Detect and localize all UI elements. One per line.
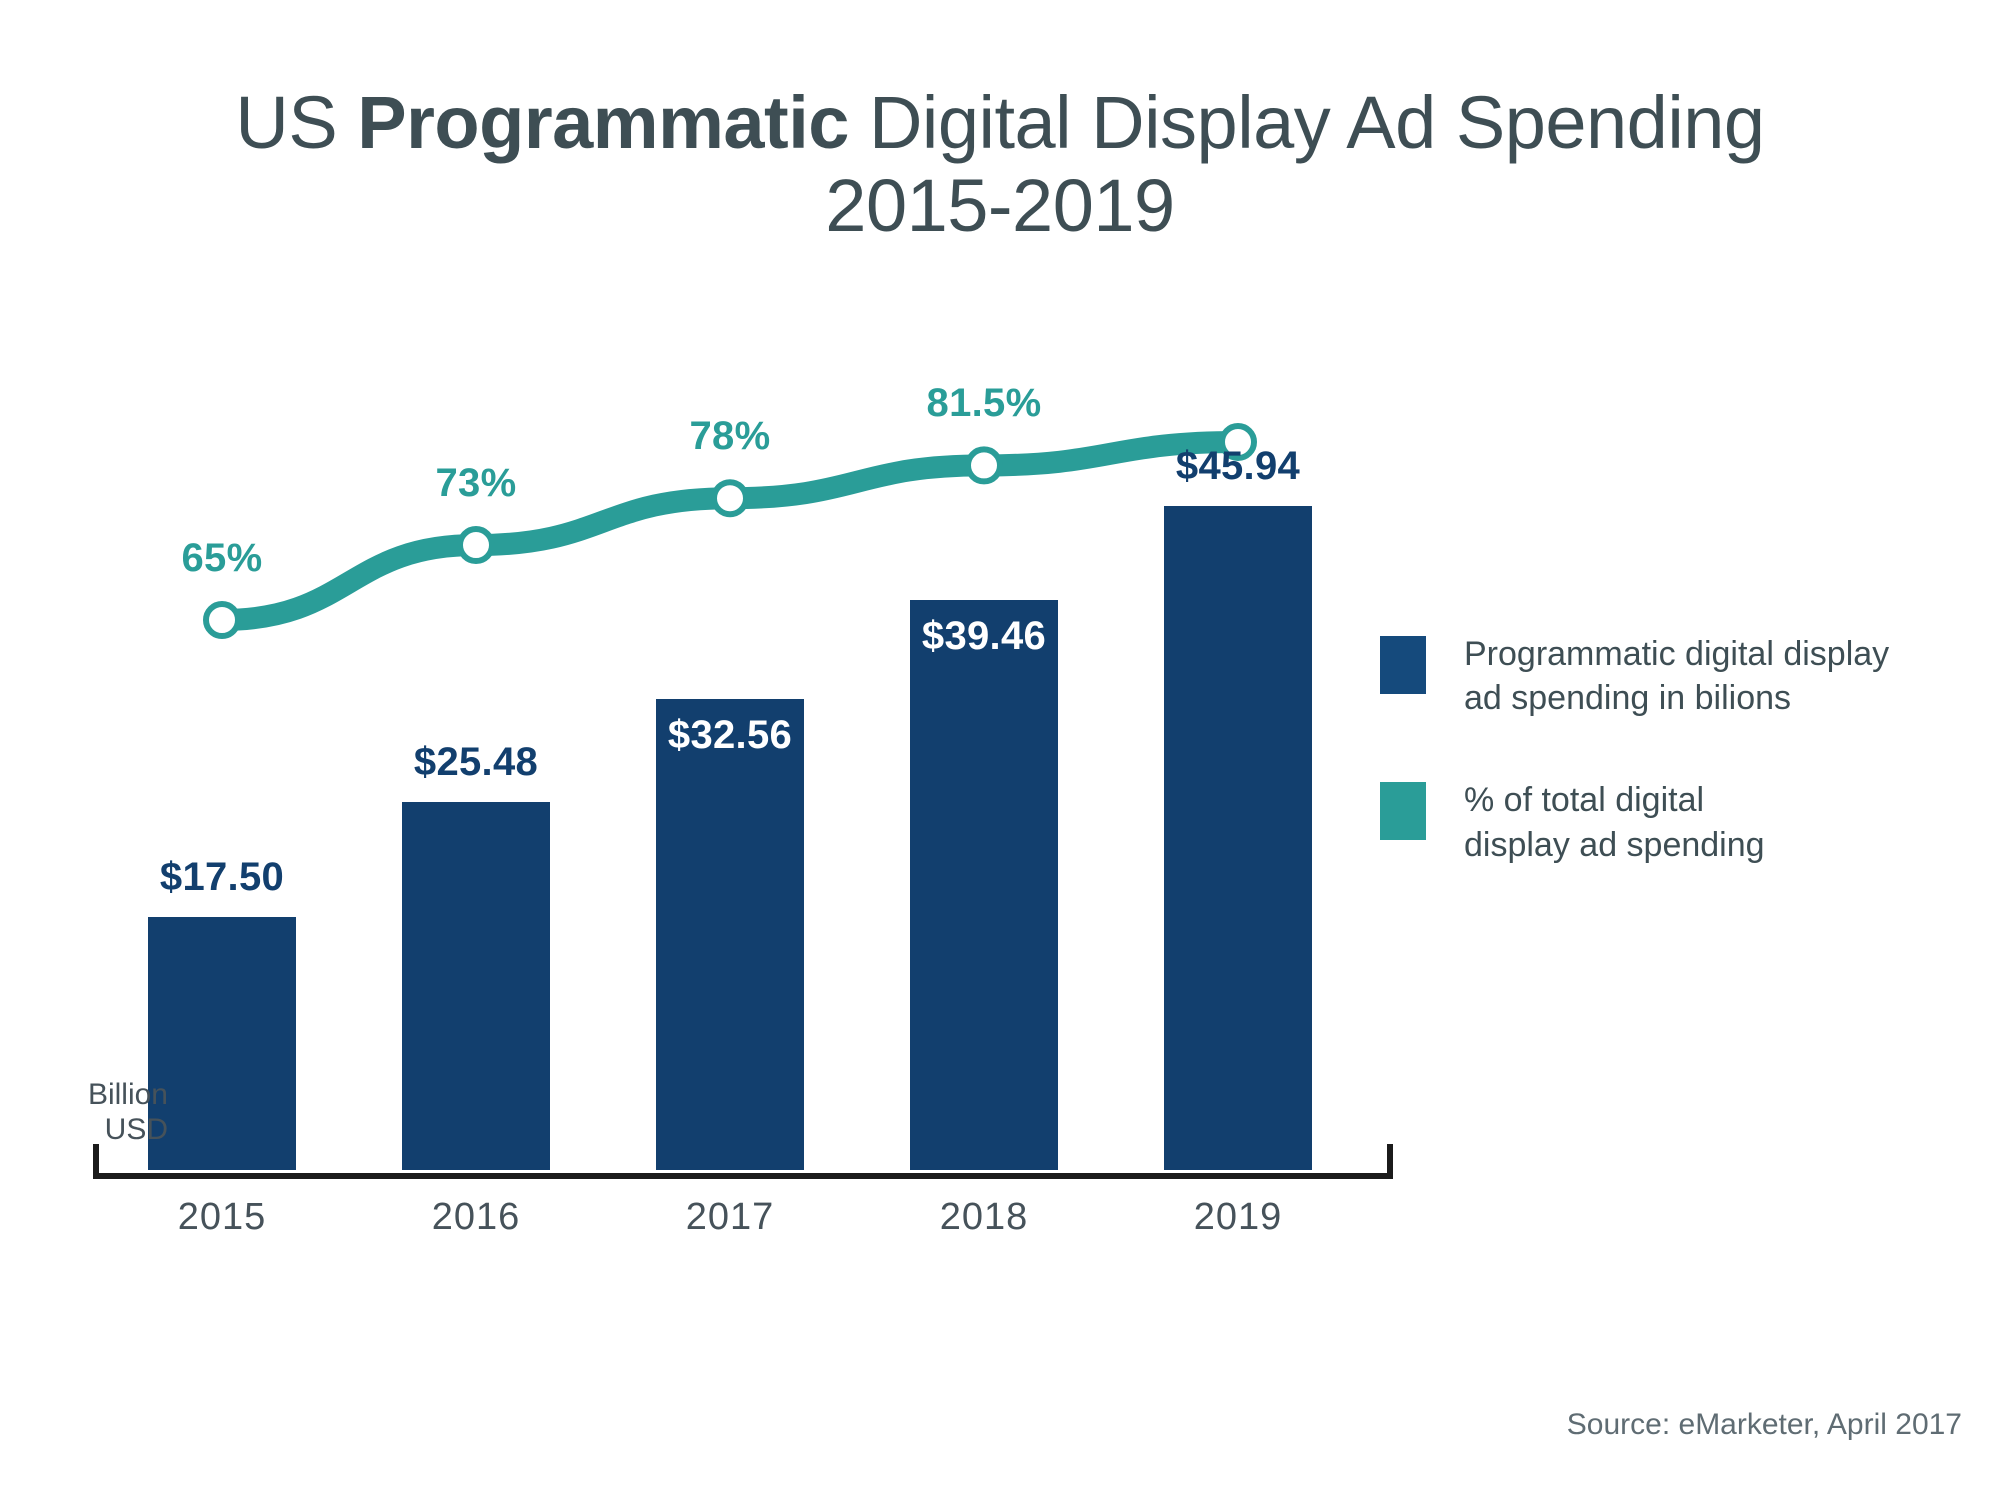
legend-item-percent-of-total[interactable]: % of total digital display ad spending — [1380, 778, 1920, 866]
percent-value-label-2015: 65% — [72, 536, 372, 581]
x-axis-label-2017: 2017 — [600, 1196, 860, 1239]
bar-value-label-2015: $17.50 — [72, 855, 372, 900]
legend-label-line-1: Programmatic digital display — [1464, 632, 1889, 676]
percent-point-2018[interactable] — [968, 449, 1000, 481]
legend-label-line-2: display ad spending — [1464, 823, 1765, 867]
bar-2018[interactable] — [910, 600, 1058, 1170]
bar-value-label-2017: $32.56 — [580, 713, 880, 758]
percent-value-label-2016: 73% — [326, 461, 626, 506]
bar-2019[interactable] — [1164, 506, 1312, 1170]
legend-item-programmatic-spending[interactable]: Programmatic digital display ad spending… — [1380, 632, 1920, 720]
legend-swatch-navy-icon — [1380, 636, 1426, 694]
bar-2016[interactable] — [402, 802, 550, 1170]
y-axis-title-line-1: Billion — [68, 1078, 168, 1113]
x-axis-label-2015: 2015 — [92, 1196, 352, 1239]
chart-legend: Programmatic digital display ad spending… — [1380, 632, 1920, 925]
plot-area: $17.50$25.48$32.56$39.46$45.9465%73%78%8… — [95, 380, 1365, 1170]
bar-value-label-2019: $45.94 — [1088, 444, 1388, 489]
legend-label-percent-of-total: % of total digital display ad spending — [1464, 778, 1765, 866]
percent-point-2015[interactable] — [206, 604, 238, 636]
x-axis-line — [60, 1130, 1420, 1190]
legend-label-programmatic-spending: Programmatic digital display ad spending… — [1464, 632, 1889, 720]
x-axis-label-2019: 2019 — [1108, 1196, 1368, 1239]
bar-2017[interactable] — [656, 699, 804, 1170]
x-axis-label-2016: 2016 — [346, 1196, 606, 1239]
x-axis-label-2018: 2018 — [854, 1196, 1114, 1239]
legend-swatch-teal-icon — [1380, 782, 1426, 840]
percent-point-2016[interactable] — [460, 529, 492, 561]
percent-point-2017[interactable] — [714, 482, 746, 514]
source-note: Source: eMarketer, April 2017 — [1567, 1408, 1962, 1442]
bar-value-label-2018: $39.46 — [834, 614, 1134, 659]
legend-label-line-1: % of total digital — [1464, 778, 1765, 822]
percent-value-label-2019: 84% — [1088, 358, 1388, 403]
legend-label-line-2: ad spending in bilions — [1464, 676, 1889, 720]
